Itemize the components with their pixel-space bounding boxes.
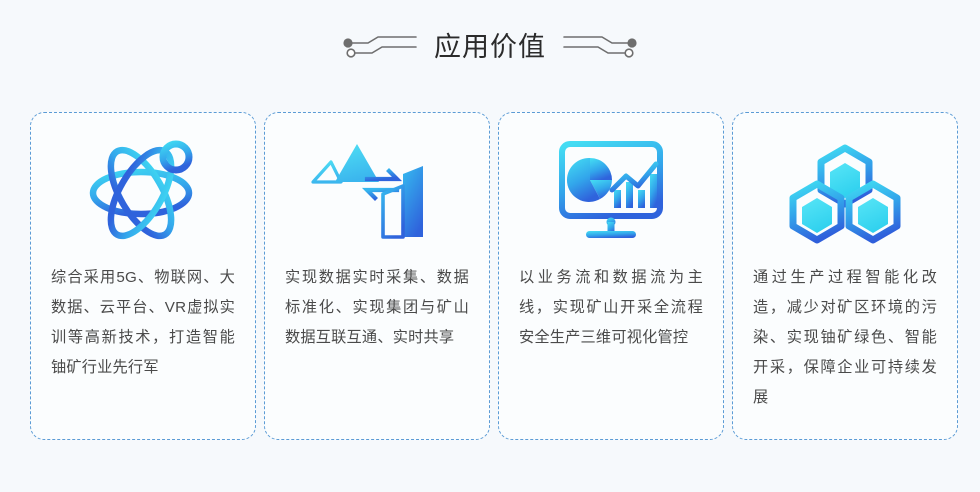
value-card-text: 以业务流和数据流为主线，实现矿山开采全流程安全生产三维可视化管控 [499,263,723,353]
value-card[interactable]: 实现数据实时采集、数据标准化、实现集团与矿山数据互联互通、实时共享 [264,112,490,440]
value-card-text: 综合采用5G、物联网、大数据、云平台、VR虚拟实训等高新技术，打造智能铀矿行业先… [31,263,255,383]
atom-icon [31,113,255,263]
mountain-data-exchange-buildings-icon [265,113,489,263]
value-card[interactable]: 综合采用5G、物联网、大数据、云平台、VR虚拟实训等高新技术，打造智能铀矿行业先… [30,112,256,440]
monitor-dashboard-charts-icon [499,113,723,263]
circuit-line-right-icon [562,32,640,62]
application-value-section: 应用价值 [0,0,980,492]
page-title: 应用价值 [434,30,546,64]
value-card[interactable]: 以业务流和数据流为主线，实现矿山开采全流程安全生产三维可视化管控 [498,112,724,440]
three-hexagons-blockchain-icon [733,113,957,263]
section-header: 应用价值 [0,22,980,72]
value-card-text: 通过生产过程智能化改造，减少对矿区环境的污染、实现铀矿绿色、智能开采，保障企业可… [733,263,957,413]
value-card-list: 综合采用5G、物联网、大数据、云平台、VR虚拟实训等高新技术，打造智能铀矿行业先… [30,112,950,440]
value-card[interactable]: 通过生产过程智能化改造，减少对矿区环境的污染、实现铀矿绿色、智能开采，保障企业可… [732,112,958,440]
circuit-line-left-icon [340,32,418,62]
value-card-text: 实现数据实时采集、数据标准化、实现集团与矿山数据互联互通、实时共享 [265,263,489,353]
